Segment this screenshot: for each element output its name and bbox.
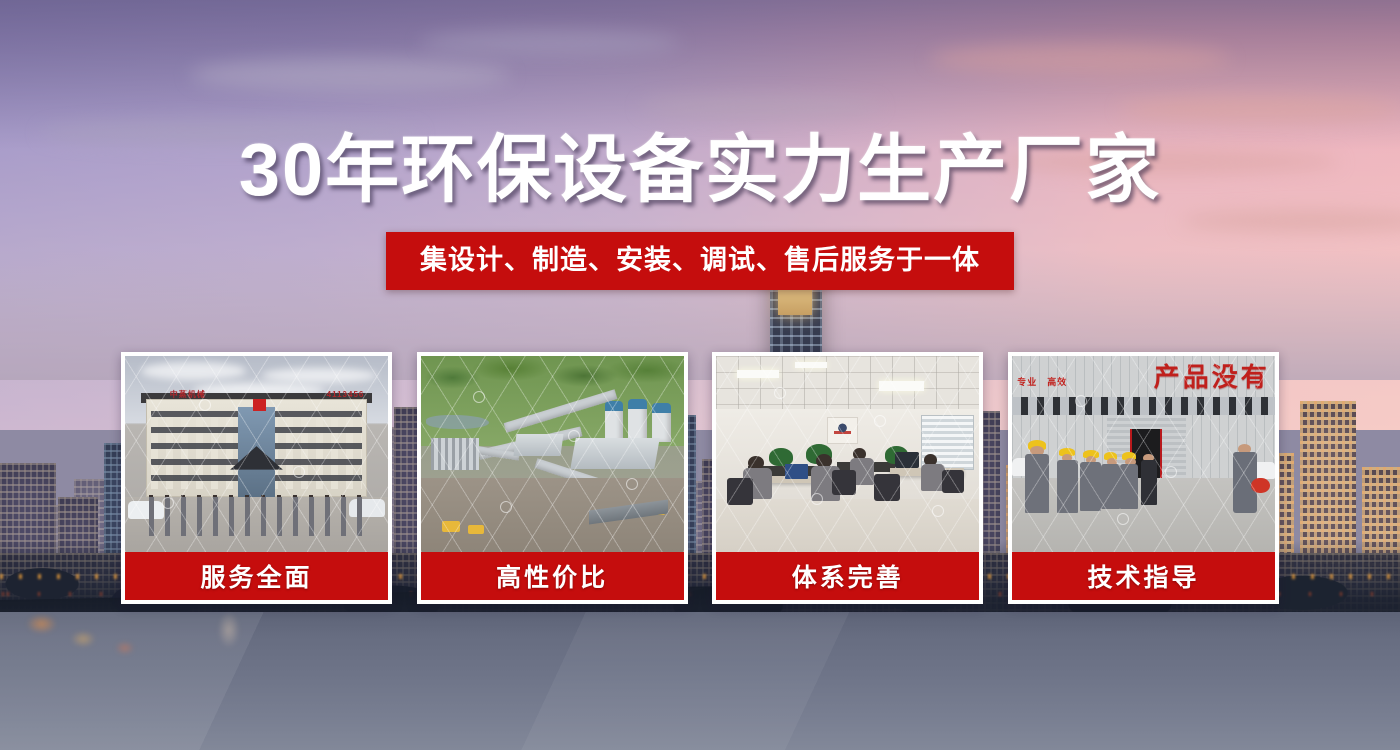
cloud (190, 58, 510, 92)
cloud (640, 96, 880, 118)
factory-sign-secondary: 专业 高效 (1017, 366, 1112, 397)
card-photo-factory-workers: 产品没有 专业 高效 (1012, 356, 1275, 552)
building-phone-text: 4113456 (275, 387, 364, 401)
cloud (930, 44, 1230, 74)
factory-sign-main: 产品没有 (1149, 360, 1270, 391)
cloud (1120, 96, 1400, 122)
card-caption: 高性价比 (421, 552, 684, 600)
feature-card[interactable]: 高性价比 (417, 352, 688, 604)
card-photo-office-building: 中蒸机械 4113456 (125, 356, 388, 552)
card-caption: 体系完善 (716, 552, 979, 600)
feature-card[interactable]: 体系完善 (712, 352, 983, 604)
subtitle-banner-wrap: 集设计、制造、安装、调试、售后服务于一体 (0, 232, 1400, 290)
page-headline: 30年环保设备实力生产厂家 (0, 128, 1400, 212)
card-photo-office-interior (716, 356, 979, 552)
factory-sign-word-1: 专业 (1017, 375, 1037, 388)
card-caption: 服务全面 (125, 552, 388, 600)
card-caption: 技术指导 (1012, 552, 1275, 600)
cloud (420, 30, 680, 56)
factory-sign-word-2: 高效 (1047, 375, 1067, 388)
river-light-reflections (0, 612, 520, 672)
feature-card[interactable]: 中蒸机械 4113456 服务全面 (121, 352, 392, 604)
building-sign-text: 中蒸机械 (170, 387, 249, 401)
subtitle-banner: 集设计、制造、安装、调试、售后服务于一体 (386, 232, 1014, 290)
feature-card[interactable]: 产品没有 专业 高效 (1008, 352, 1279, 604)
feature-card-row: 中蒸机械 4113456 服务全面 (121, 352, 1279, 604)
card-photo-industrial-plant (421, 356, 684, 552)
